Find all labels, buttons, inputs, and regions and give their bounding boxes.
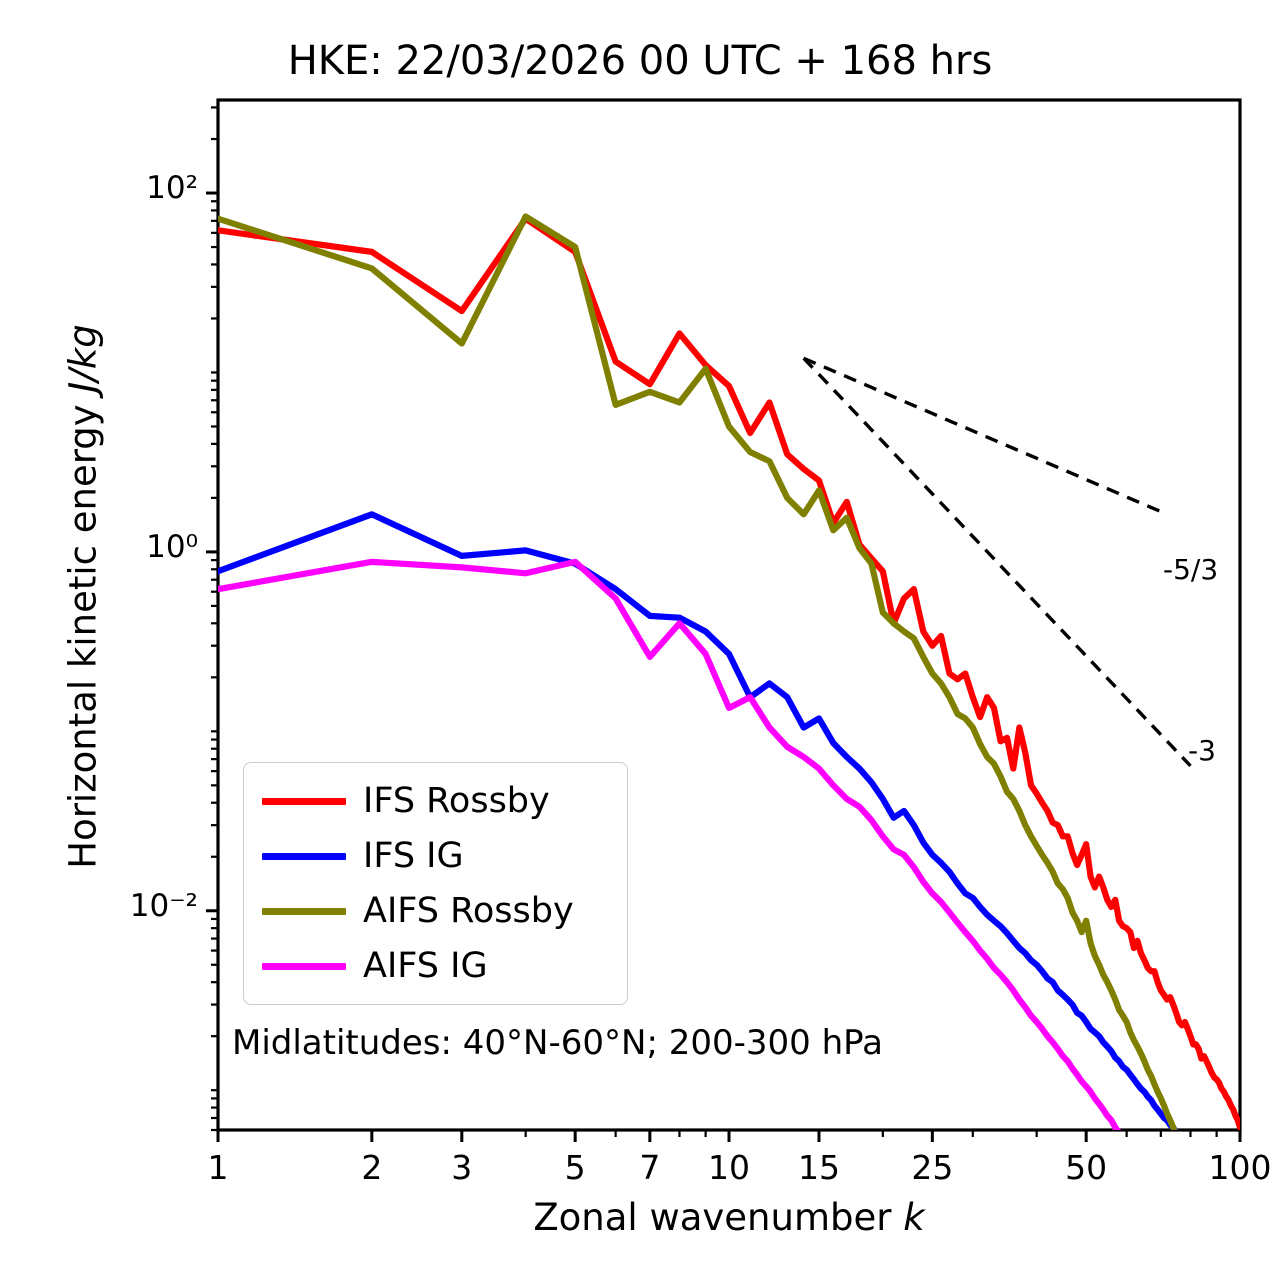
x-tick-label: 1 [158, 1148, 278, 1187]
legend-item-ifs-rossby[interactable]: IFS Rossby [262, 775, 550, 827]
slope-label-5-3: -5/3 [1163, 553, 1218, 586]
legend-label: IFS IG [363, 839, 464, 874]
y-tick-label: 10² [60, 170, 198, 206]
legend-item-aifs-rossby[interactable]: AIFS Rossby [262, 885, 574, 937]
legend-swatch [262, 908, 346, 915]
reference-line-3 [804, 358, 1191, 766]
slope-label-3: -3 [1188, 734, 1216, 767]
legend-item-ifs-ig[interactable]: IFS IG [262, 830, 464, 882]
reference-line-5-3 [804, 358, 1167, 514]
legend: IFS RossbyIFS IGAIFS RossbyAIFS IG [243, 762, 628, 1005]
x-tick-label: 3 [402, 1148, 522, 1187]
legend-label: IFS Rossby [363, 784, 550, 819]
legend-label: AIFS IG [363, 949, 488, 984]
region-annotation: Midlatitudes: 40°N-60°N; 200-300 hPa [232, 1023, 883, 1063]
legend-swatch [262, 963, 346, 970]
legend-swatch [262, 798, 346, 805]
chart-figure: HKE: 22/03/2026 00 UTC + 168 hrs Horizon… [0, 0, 1280, 1288]
x-tick-label: 100 [1180, 1148, 1280, 1187]
x-tick-label: 15 [759, 1148, 879, 1187]
legend-swatch [262, 853, 346, 860]
x-tick-label: 25 [872, 1148, 992, 1187]
y-tick-label: 10⁻² [60, 888, 198, 924]
legend-item-aifs-ig[interactable]: AIFS IG [262, 940, 488, 992]
y-tick-label: 10⁰ [60, 529, 198, 565]
x-tick-label: 50 [1026, 1148, 1146, 1187]
legend-label: AIFS Rossby [363, 894, 574, 929]
reference-slope-lines [804, 358, 1191, 766]
